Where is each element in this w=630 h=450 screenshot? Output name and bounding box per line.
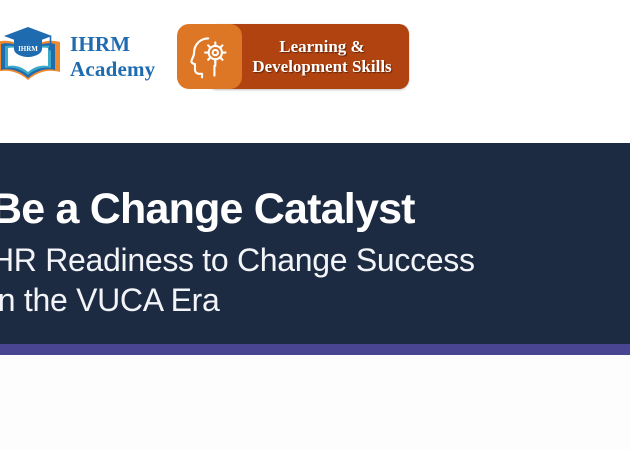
badge-label-line2: Development Skills xyxy=(252,57,391,77)
badge-text: Learning & Development Skills xyxy=(235,24,409,89)
ihrm-academy-logo[interactable]: IHRM IHRM Academy xyxy=(0,24,155,90)
header-bar: IHRM IHRM Academy Learning & Development… xyxy=(0,0,630,143)
accent-divider xyxy=(0,344,630,355)
brand-name-line2: Academy xyxy=(70,57,155,82)
ihrm-academy-wordmark: IHRM Academy xyxy=(70,32,155,82)
subtitle-line-2: in the VUCA Era xyxy=(0,280,511,320)
content-canvas xyxy=(0,355,630,450)
head-with-gear-icon xyxy=(177,24,242,89)
hero-banner: Be a Change Catalyst HR Readiness to Cha… xyxy=(0,143,630,344)
brand-name-line1: IHRM xyxy=(70,32,130,56)
page-title: Be a Change Catalyst xyxy=(0,183,415,235)
page-subtitle: HR Readiness to Change Success in the VU… xyxy=(0,240,511,320)
subtitle-line-1: HR Readiness to Change Success xyxy=(0,240,511,280)
ihrm-mark-label: IHRM xyxy=(18,45,38,53)
hero-inner: Be a Change Catalyst HR Readiness to Cha… xyxy=(0,143,630,344)
badge-label-line1: Learning & xyxy=(279,37,364,57)
graduation-cap-open-book-icon: IHRM xyxy=(0,25,64,89)
learning-development-skills-badge[interactable]: Learning & Development Skills xyxy=(177,24,409,89)
